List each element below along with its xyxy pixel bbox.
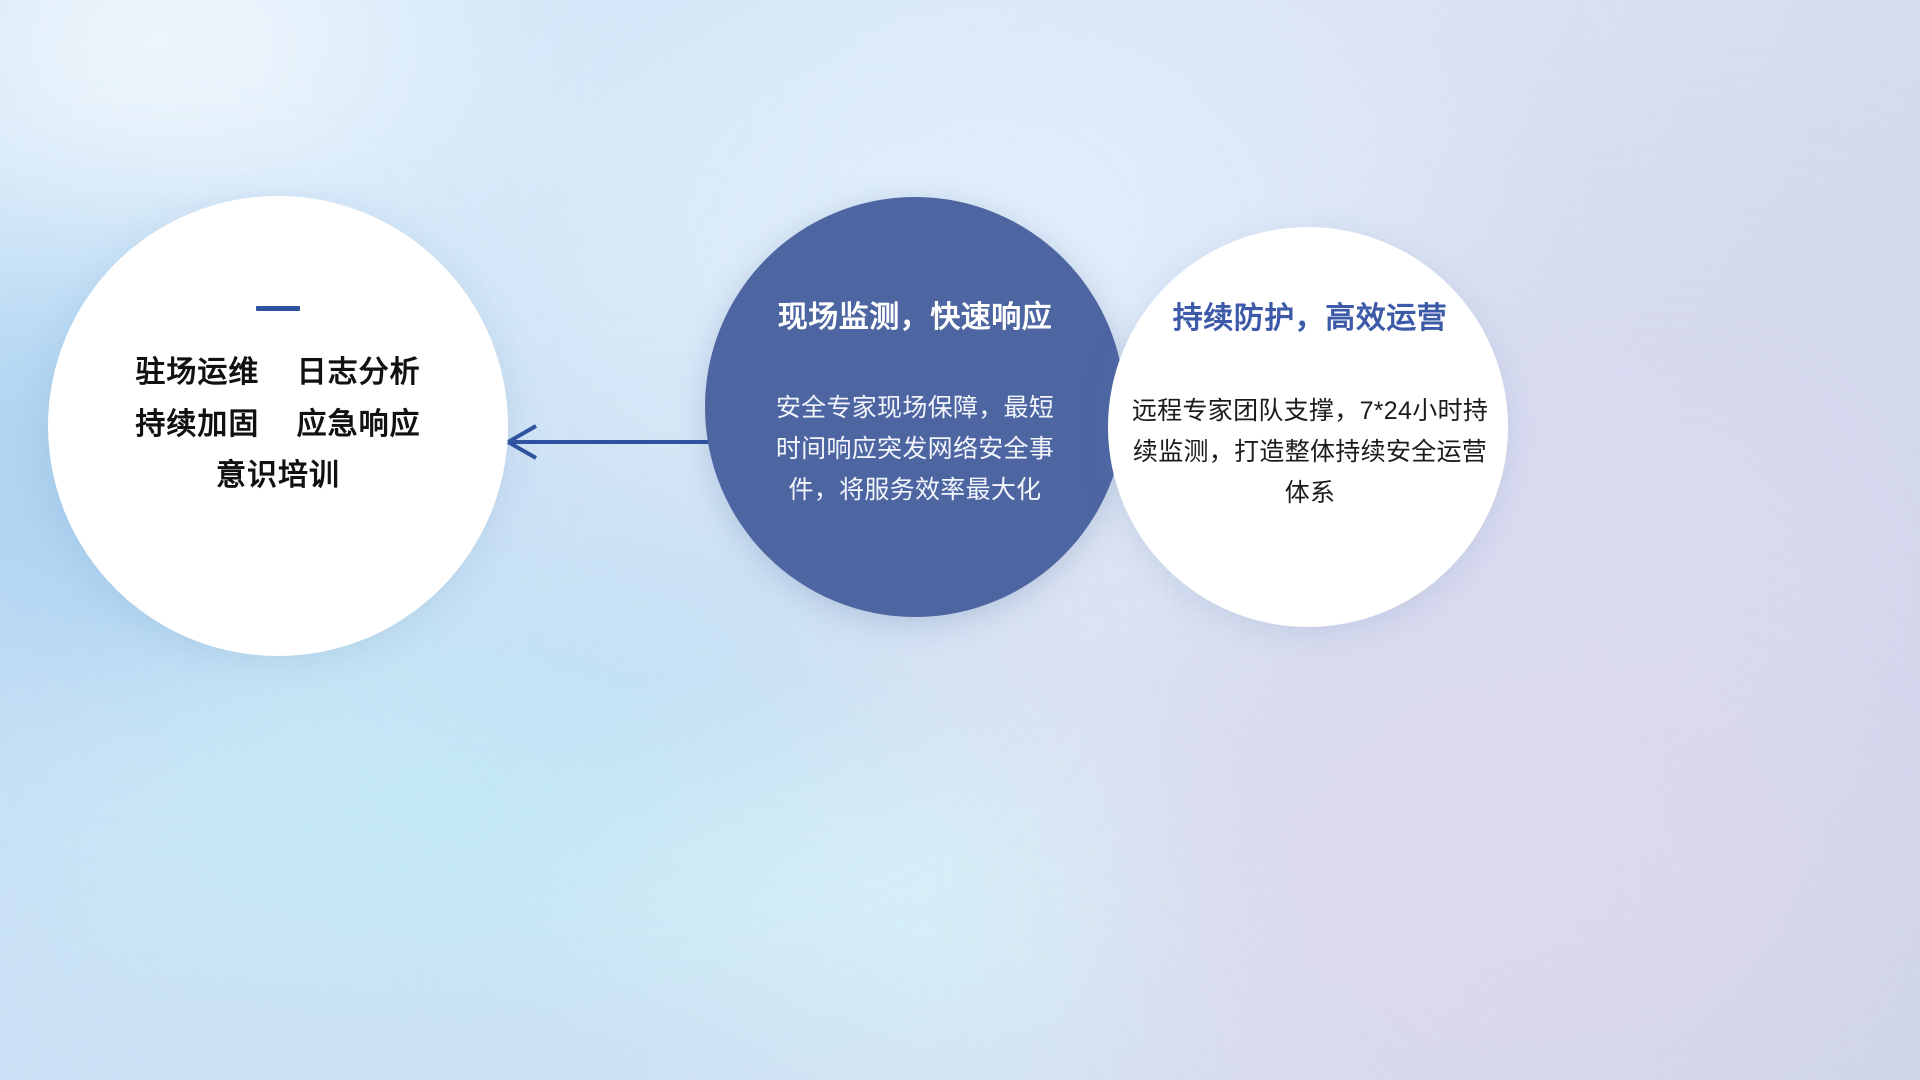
- list-item: 持续加固 应急响应: [135, 409, 420, 441]
- list-item: 意识培训: [216, 460, 340, 492]
- middle-circle-body: 安全专家现场保障，最短时间响应突发网络安全事件，将服务效率最大化: [765, 388, 1065, 511]
- right-circle-body: 远程专家团队支撑，7*24小时持续监测，打造整体持续安全运营体系: [1130, 391, 1490, 514]
- slide-canvas: 现场监测，快速响应 安全专家现场保障，最短时间响应突发网络安全事件，将服务效率最…: [0, 0, 1920, 1080]
- list-item: 驻场运维 日志分析: [135, 357, 420, 389]
- left-circle-keyword-list: 驻场运维 日志分析 持续加固 应急响应 意识培训: [135, 357, 420, 492]
- middle-circle-title: 现场监测，快速响应: [778, 292, 1053, 336]
- middle-circle-content: 现场监测，快速响应 安全专家现场保障，最短时间响应突发网络安全事件，将服务效率最…: [705, 197, 1125, 617]
- right-circle-title: 持续防护，高效运营: [1173, 293, 1448, 337]
- right-circle-content: 持续防护，高效运营 远程专家团队支撑，7*24小时持续监测，打造整体持续安全运营…: [1105, 227, 1515, 627]
- left-circle-content: 驻场运维 日志分析 持续加固 应急响应 意识培训: [48, 196, 508, 656]
- horizontal-dash-icon: [256, 306, 300, 311]
